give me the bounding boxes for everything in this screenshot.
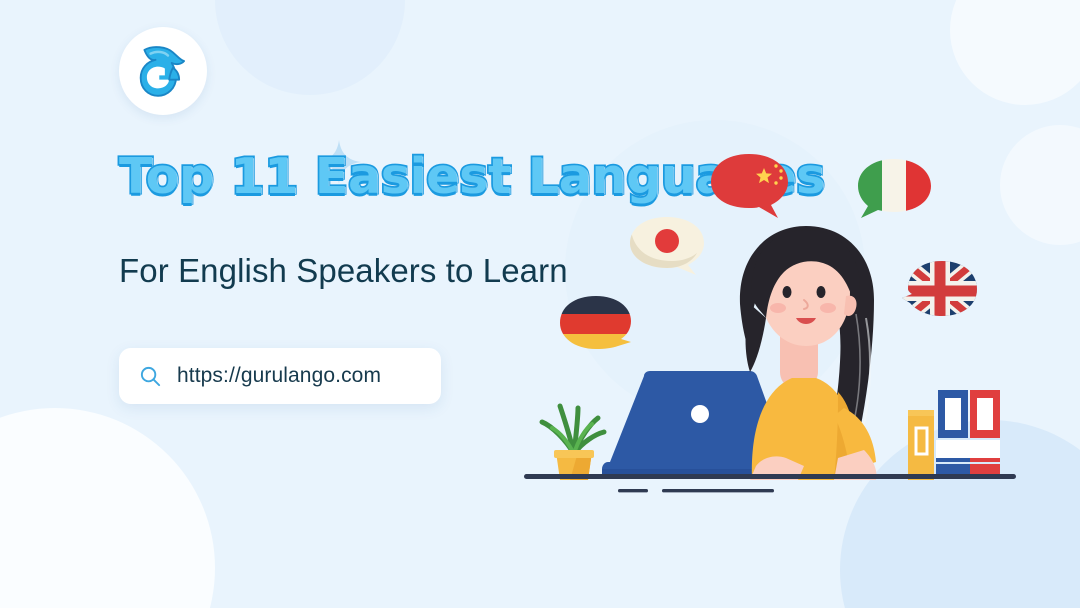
headline-block: Top 11 Easiest Languages (119, 152, 825, 201)
page-subtitle: For English Speakers to Learn (119, 252, 568, 290)
background-blob-bottom-right (840, 420, 1080, 608)
background-blob-bottom-left (0, 408, 215, 608)
dolphin-g-logo-icon (132, 40, 194, 102)
background-blob-top-right-1 (950, 0, 1080, 105)
website-url-field[interactable]: https://gurulango.com (119, 348, 441, 404)
background-blob-top-right-2 (1000, 125, 1080, 245)
background-blob-top (215, 0, 405, 95)
brand-logo[interactable] (119, 27, 207, 115)
hero-banner: Top 11 Easiest Languages For English Spe… (0, 0, 1080, 608)
page-title: Top 11 Easiest Languages (119, 152, 825, 201)
website-url-text: https://gurulango.com (177, 364, 381, 388)
search-icon (139, 365, 162, 388)
